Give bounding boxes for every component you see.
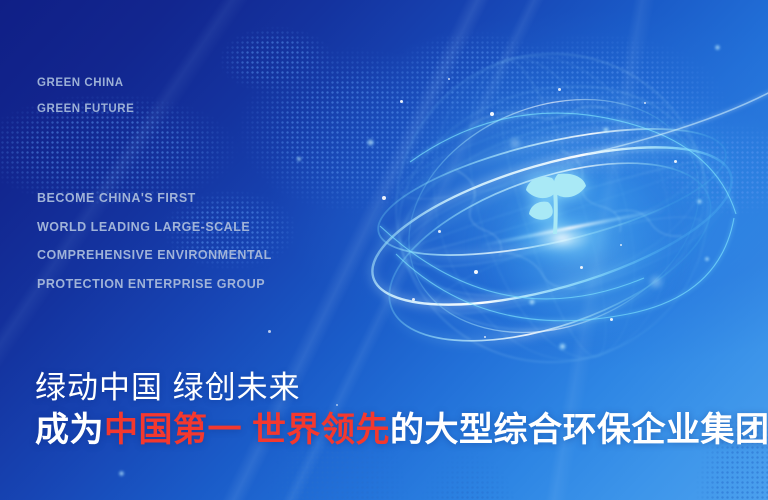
center-light-streak (479, 208, 666, 247)
headline-secondary: 成为中国第一 世界领先的大型综合环保企业集团 (35, 408, 768, 452)
headline-primary: 绿动中国 绿创未来 (35, 368, 768, 408)
globe-longitude-lines (398, 26, 707, 389)
globe-accent-arcs (380, 113, 736, 321)
center-light-burst (502, 208, 622, 268)
light-particle (382, 196, 386, 200)
light-particle (620, 244, 622, 246)
tagline-text-block: BECOME CHINA'S FIRST WORLD LEADING LARGE… (37, 184, 272, 298)
globe-graphic (352, 30, 742, 390)
light-particle (602, 126, 610, 134)
light-particle (528, 298, 536, 306)
tagline-line-3: COMPREHENSIVE ENVIRONMENTAL (37, 241, 272, 270)
hero-banner: GREEN CHINA GREEN FUTURE BECOME CHINA'S … (0, 0, 768, 500)
light-particle (610, 318, 613, 321)
globe-orbital-rings (356, 58, 748, 377)
headline-secondary-prefix: 成为 (35, 411, 104, 449)
light-particle (696, 198, 703, 205)
light-particle (714, 44, 721, 51)
eyebrow-text-block: GREEN CHINA GREEN FUTURE (37, 70, 134, 122)
light-particle (558, 88, 561, 91)
tagline-line-2: WORLD LEADING LARGE-SCALE (37, 213, 272, 242)
light-particle (648, 274, 664, 290)
light-particle (366, 138, 375, 147)
globe-inner-glow (472, 150, 692, 340)
light-particle (704, 256, 710, 262)
sprout-leaf-left (526, 177, 556, 198)
sprout-icon (518, 168, 592, 240)
light-particle (448, 78, 450, 80)
sprout-leaf-lower (529, 202, 553, 220)
light-particle (484, 336, 486, 338)
light-particle (438, 230, 441, 233)
globe-sphere-body (396, 52, 708, 364)
eyebrow-line-1: GREEN CHINA (37, 70, 134, 96)
globe-light-streak (588, 90, 768, 154)
light-particle (508, 136, 522, 150)
sprout-stem (553, 190, 558, 234)
light-particle (412, 298, 415, 301)
headline-block: 绿动中国 绿创未来 成为中国第一 世界领先的大型综合环保企业集团 (35, 368, 768, 452)
light-particle (118, 470, 125, 477)
tagline-line-1: BECOME CHINA'S FIRST (37, 184, 272, 213)
light-particle (474, 270, 478, 274)
sprout-leaf-right (554, 174, 586, 198)
light-particle (558, 342, 567, 351)
tagline-line-4: PROTECTION ENTERPRISE GROUP (37, 270, 272, 299)
headline-secondary-suffix: 的大型综合环保企业集团 (390, 411, 768, 449)
light-particle (490, 112, 494, 116)
light-particle (580, 266, 583, 269)
globe-wireframe-svg (352, 30, 742, 390)
eyebrow-line-2: GREEN FUTURE (37, 96, 134, 122)
globe-continent-traces (456, 106, 682, 288)
globe-latitude-lines (358, 15, 746, 401)
light-particle (674, 160, 677, 163)
light-particle (400, 100, 403, 103)
light-particle (644, 102, 646, 104)
light-particle (296, 156, 302, 162)
light-particle (268, 330, 271, 333)
headline-secondary-highlight: 中国第一 世界领先 (104, 411, 390, 449)
